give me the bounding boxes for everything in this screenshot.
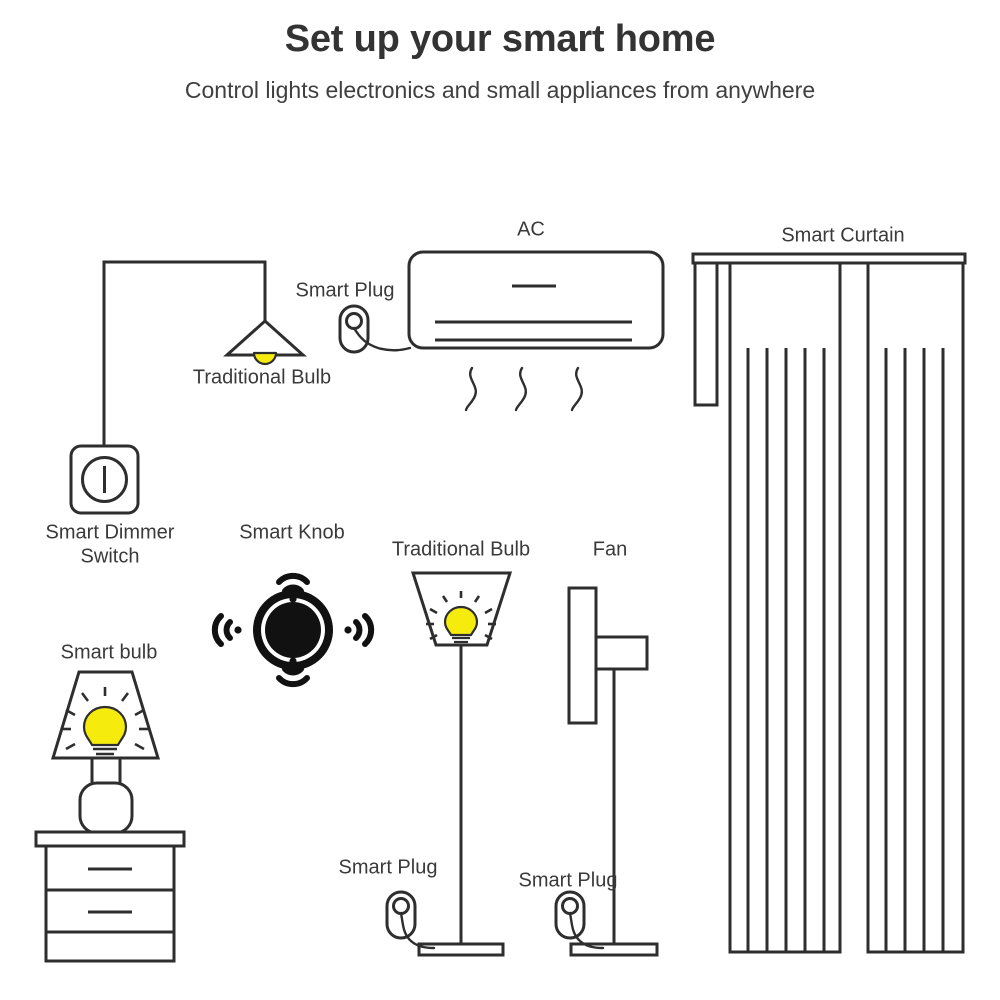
- nightstand-top: [36, 832, 184, 846]
- label-traditional-bulb-pendant: Traditional Bulb: [193, 366, 331, 388]
- knob-signal-icon-right: [344, 616, 371, 644]
- label-smart-knob: Smart Knob: [239, 521, 345, 543]
- smart-plug-fan[interactable]: [556, 892, 603, 948]
- label-ac: AC: [517, 218, 545, 240]
- label-smart-dimmer-switch-line2: Switch: [81, 545, 140, 567]
- smart-curtain[interactable]: [693, 254, 965, 952]
- pendant-shade-icon: [227, 321, 303, 355]
- ac-airflow-icon-3: [572, 368, 582, 410]
- bulb-icon: [254, 353, 276, 364]
- curtain-panel-right: [868, 263, 963, 952]
- smart-home-diagram: Smart Plug AC Smart Curtain Traditional …: [0, 0, 1000, 1000]
- ac-airflow-icon-1: [466, 368, 476, 410]
- curtain-panel-left: [730, 263, 840, 952]
- smart-plug-floor-lamp[interactable]: [387, 892, 434, 948]
- label-smart-plug-floor-lamp: Smart Plug: [339, 856, 438, 878]
- smart-home-infographic: Set up your smart home Control lights el…: [0, 0, 1000, 1000]
- label-smart-dimmer-switch-line1: Smart Dimmer: [46, 521, 175, 543]
- ac-airflow-icon-2: [516, 368, 526, 410]
- table-lamp[interactable]: [53, 672, 158, 833]
- smart-dimmer-switch[interactable]: [71, 446, 138, 513]
- floor-lamp-base: [419, 944, 503, 955]
- smart-plug-ac[interactable]: [340, 306, 410, 352]
- pendant-lamp-circuit: [104, 262, 265, 463]
- curtain-motor-box: [695, 263, 717, 405]
- fan-motor-body: [596, 637, 647, 669]
- ac-body: [409, 252, 663, 348]
- label-smart-plug-ac: Smart Plug: [296, 279, 395, 301]
- knob-signal-icon-left: [215, 616, 242, 644]
- knob-center: [265, 602, 321, 658]
- curtain-panel-right-body: [868, 263, 963, 952]
- table-lamp-body: [80, 783, 132, 833]
- fan-base: [571, 944, 657, 955]
- label-smart-curtain: Smart Curtain: [781, 224, 904, 246]
- label-smart-bulb: Smart bulb: [61, 641, 158, 663]
- label-smart-plug-fan: Smart Plug: [519, 869, 618, 891]
- label-traditional-bulb-floor: Traditional Bulb: [392, 538, 530, 560]
- fan-blade-housing: [569, 588, 596, 723]
- label-fan: Fan: [593, 538, 627, 560]
- pendant-lamp-wire: [104, 262, 265, 463]
- nightstand[interactable]: [36, 832, 184, 961]
- floor-lamp[interactable]: [413, 573, 510, 955]
- nightstand-body: [46, 846, 174, 961]
- air-conditioner[interactable]: [409, 252, 663, 410]
- traditional-bulb-pendant[interactable]: [227, 321, 303, 364]
- smart-knob[interactable]: [215, 576, 371, 684]
